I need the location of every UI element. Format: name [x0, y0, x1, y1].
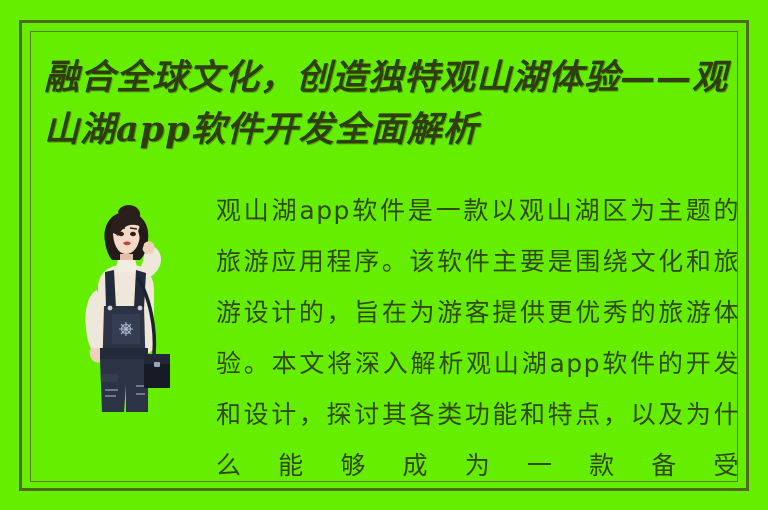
article-body: 观山湖app软件是一款以观山湖区为主题的旅游应用程序。该软件主要是围绕文化和旅游… [216, 185, 740, 491]
right-eyebrow [130, 228, 137, 229]
turtleneck-collar [117, 260, 137, 272]
right-eye [130, 232, 136, 236]
waistband [100, 348, 148, 359]
pocket-emblem [119, 322, 133, 336]
side-pocket [102, 374, 118, 382]
left-sleeve [85, 290, 101, 355]
illustration-figure [78, 198, 174, 445]
left-eye [118, 232, 124, 236]
article-title: 融合全球文化，创造独特观山湖体验——观山湖app软件开发全面解析 [44, 52, 734, 156]
left-eyebrow [118, 228, 125, 229]
poster-canvas: 融合全球文化，创造独特观山湖体验——观山湖app软件开发全面解析 [0, 0, 768, 510]
left-strap-button [108, 306, 113, 311]
young-woman-illustration [78, 198, 174, 445]
right-strap-button [138, 306, 143, 311]
bag-clasp [154, 362, 160, 367]
